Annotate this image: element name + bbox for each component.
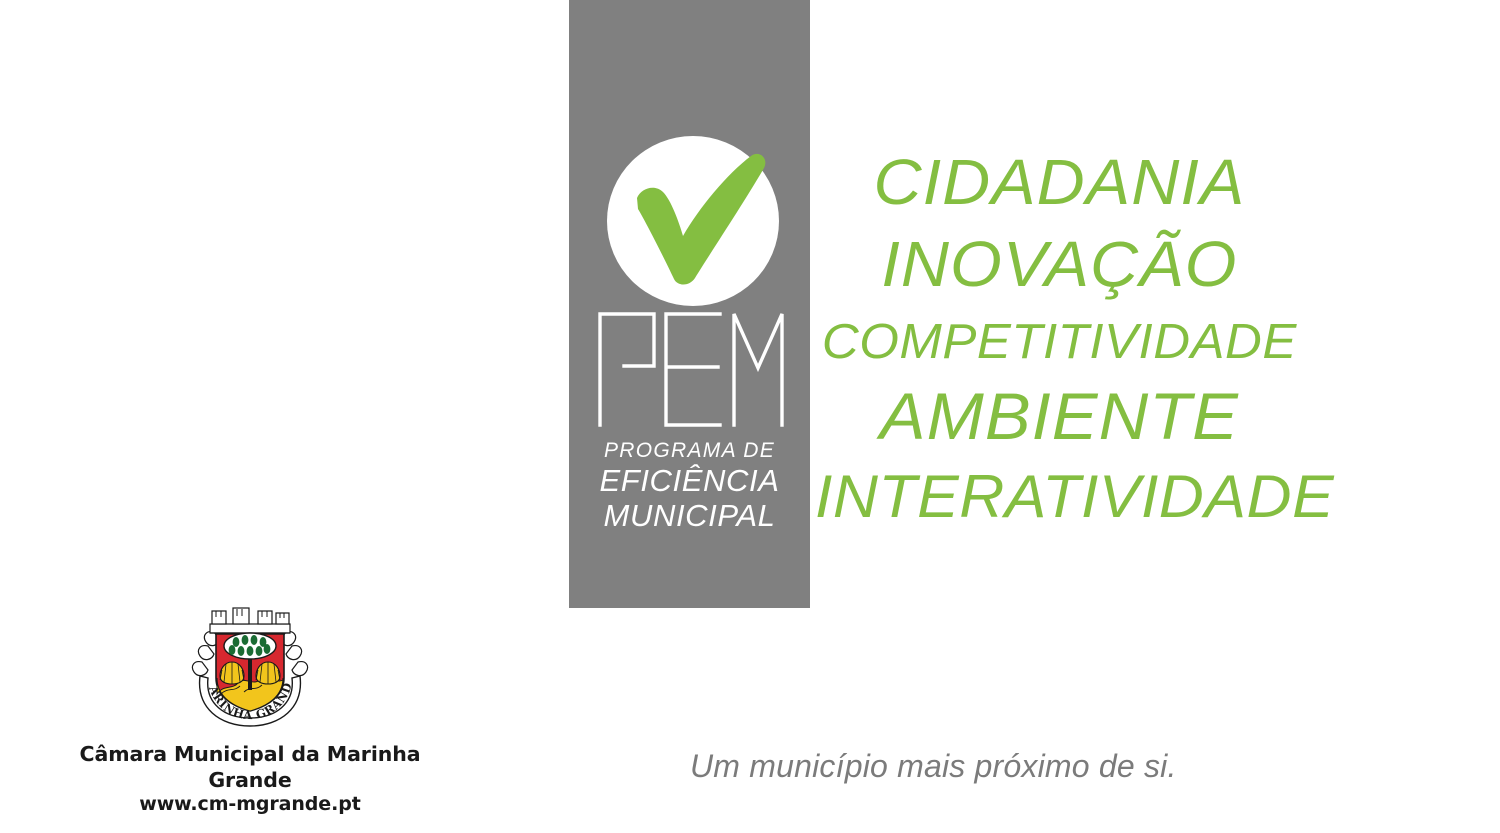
- pem-wordmark: [592, 306, 792, 431]
- slide-canvas: PROGRAMA DE EFICIÊNCIA MUNICIPAL CIDADAN…: [0, 0, 1500, 833]
- pem-descriptor-line-2: EFICIÊNCIA: [569, 465, 810, 496]
- keyword-inovacao: INOVAÇÃO: [815, 232, 1304, 296]
- marinha-grande-coat-of-arms-icon: MARINHA GRANDE: [188, 604, 312, 732]
- keyword-competitividade: COMPETITIVIDADE: [815, 318, 1304, 367]
- keyword-ambiente: AMBIENTE: [815, 383, 1304, 449]
- municipality-name: Câmara Municipal da Marinha Grande: [60, 742, 440, 793]
- keyword-list: CIDADANIA INOVAÇÃO COMPETITIVIDADE AMBIE…: [815, 150, 1285, 527]
- tagline: Um município mais próximo de si.: [690, 748, 1177, 785]
- pem-descriptor: PROGRAMA DE EFICIÊNCIA MUNICIPAL: [569, 440, 810, 531]
- keyword-cidadania: CIDADANIA: [815, 150, 1304, 214]
- municipality-block: MARINHA GRANDE Câmara Municipal da Marin…: [60, 604, 440, 817]
- pem-descriptor-line-3: MUNICIPAL: [569, 500, 810, 531]
- keyword-interatividade: INTERATIVIDADE: [815, 467, 1304, 527]
- municipality-url: www.cm-mgrande.pt: [60, 793, 440, 817]
- green-checkmark-icon: [607, 136, 779, 306]
- pem-descriptor-line-1: PROGRAMA DE: [569, 440, 810, 461]
